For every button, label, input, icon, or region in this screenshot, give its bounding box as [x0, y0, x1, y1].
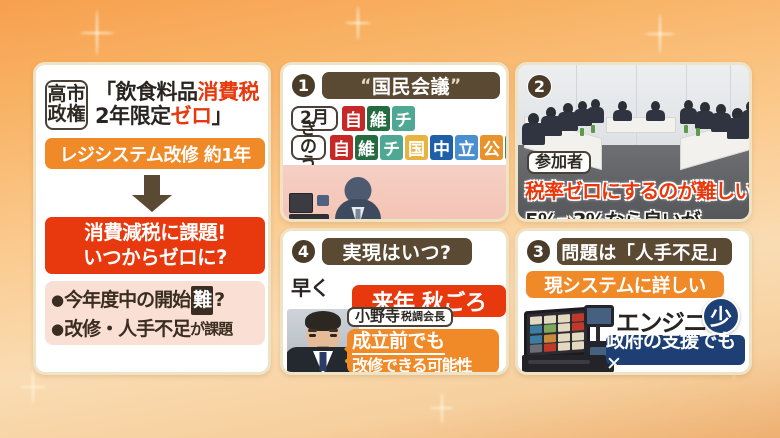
bullet-1-emphasis: 難: [191, 286, 213, 315]
issue-callout: 消費減税に課題! いつからゼロに?: [45, 217, 265, 274]
panel-participants: 参加者 税率ゼロにするのが難しい 5%➡3%なら良いが… 2: [515, 62, 752, 222]
register-display: [317, 195, 329, 206]
bullet-2-suffix: が課題: [190, 318, 232, 341]
bullet-marker: ●: [51, 289, 63, 312]
panel-1-title-text: 国民会議: [372, 72, 450, 99]
sparkle-icon: [430, 392, 454, 424]
panel-4-header: 4 実現はいつ?: [291, 238, 472, 265]
quote-suffix: 」: [212, 104, 233, 128]
panel-1-header: 1 “国民会議”: [291, 72, 500, 99]
party-badge: 自: [342, 106, 365, 131]
panel-3-subtitle: 現システムに詳しい: [526, 271, 724, 298]
party-badge: 保: [505, 135, 509, 160]
cash-register-icon: [289, 193, 331, 222]
party-badge: チ: [380, 135, 403, 160]
arrow-icon: ➡: [557, 209, 573, 222]
register-base: [289, 214, 329, 222]
panel-4-title: 実現はいつ?: [322, 238, 472, 265]
person-role: 税調会長: [401, 311, 445, 323]
person-name-chip: 小野寺税調会長: [347, 307, 453, 327]
businessman-silhouette: [335, 177, 381, 222]
bullet-item: ●今年度中の開始難?: [51, 286, 259, 315]
onodera-speech-bubble: 成立前でも 改修できる可能性: [347, 329, 499, 374]
administration-chip: 高市 政権: [45, 80, 88, 130]
register-drawer: [522, 355, 606, 373]
rate-to: 3%なら良いが…: [573, 209, 719, 222]
panel-number-3: 3: [526, 239, 551, 264]
issue-line-1: 消費減税に課題!: [84, 221, 225, 246]
portrait-hair: [305, 311, 341, 331]
party-badge: 中: [430, 135, 453, 160]
bubble-line-2: 改修できる可能性: [352, 356, 494, 375]
attendee-body: [613, 110, 632, 121]
customer-display: [584, 305, 614, 327]
bullet-1-text: 今年度中の開始: [64, 286, 190, 315]
portrait-tie: [320, 352, 327, 371]
party-badge: チ: [392, 106, 415, 131]
bullet-2-text: 改修・人手不足: [64, 315, 190, 344]
person-name: 小野寺: [355, 309, 400, 325]
silhouette-tie: [356, 209, 361, 222]
register-screen: [524, 307, 590, 360]
bubble-line-1: 成立前でも: [352, 331, 445, 355]
quote-prefix-1: 「飲食料品: [95, 80, 198, 104]
quote-highlight-1: 消費税: [198, 80, 260, 104]
party-badge: 公: [480, 135, 503, 160]
panel-number-1: 1: [291, 73, 316, 98]
bullet-list: ●今年度中の開始難? ●改修・人手不足が課題: [45, 281, 265, 345]
quote-prefix-2: 2年限定: [95, 104, 171, 128]
panel-3-header: 3 問題は「人手不足」: [526, 238, 732, 265]
party-badge: 立: [455, 135, 478, 160]
party-badges-february: 自 維 チ: [342, 106, 415, 131]
party-badge: 自: [330, 135, 353, 160]
quote-highlight-2: ゼロ: [171, 104, 212, 128]
panel-number-2: 2: [527, 74, 552, 99]
party-badge: 維: [355, 135, 378, 160]
participant-quote-line-2: 5%➡3%なら良いが…: [525, 205, 743, 222]
register-keypad: [530, 313, 584, 353]
speaker-label-participant: 参加者: [527, 151, 591, 174]
panel-national-conference: 1 “国民会議” 2月 自 維 チ きのう 自 維 チ 国 中 立 公: [280, 62, 509, 222]
attendee-body: [742, 110, 752, 128]
silhouette-body: [335, 199, 381, 222]
participant-quote: 税率ゼロにするのが難しい 5%➡3%なら良いが…: [525, 175, 743, 222]
participant-quote-line-1: 税率ゼロにするのが難しい: [525, 175, 743, 204]
row-label-yesterday: きのう: [291, 135, 326, 160]
attendee-body: [646, 110, 665, 121]
party-badge: 維: [367, 106, 390, 131]
party-row-yesterday: きのう 自 維 チ 国 中 立 公 保: [291, 135, 509, 160]
summary-panel: 高市 政権 「飲食料品消費税 2年限定ゼロ」 レジシステム改修 約1年 消費減税…: [33, 62, 271, 375]
register-upgrade-bar: レジシステム改修 約1年: [45, 138, 265, 169]
bullet-marker: ●: [51, 318, 63, 341]
party-badge: 国: [405, 135, 428, 160]
sparkle-icon: [20, 370, 46, 404]
attendee-body: [587, 107, 604, 123]
bullet-item: ●改修・人手不足が課題: [51, 315, 259, 344]
register-screen: [289, 193, 313, 213]
panel-labor-shortage: 3 問題は「人手不足」 現システムに詳しい エンジニア 少 政府の支援でも✕: [515, 228, 752, 375]
government-support-banner: 政府の支援でも✕: [606, 335, 745, 365]
open-quote: “: [360, 76, 372, 96]
panel-timing: 4 実現はいつ? 早くて 来年 秋ごろ 小野寺税調会長 成立前でも 改修できる可…: [280, 228, 509, 375]
issue-line-2: いつからゼロに?: [83, 246, 227, 271]
sparkle-icon: [645, 14, 675, 54]
sparkle-icon: [345, 6, 371, 40]
bullet-1-suffix: ?: [214, 286, 224, 315]
close-quote: ”: [450, 76, 462, 96]
sparkle-icon: [80, 10, 114, 56]
headline-quote: 「飲食料品消費税 2年限定ゼロ」: [95, 81, 259, 128]
party-badges-yesterday: 自 維 チ 国 中 立 公 保: [330, 135, 509, 160]
panel-number-4: 4: [291, 239, 316, 264]
down-arrow-icon: [129, 175, 175, 213]
panel-3-title: 問題は「人手不足」: [557, 238, 732, 265]
panel-1-title: “国民会議”: [322, 72, 500, 99]
graphic-board: 高市 政権 「飲食料品消費税 2年限定ゼロ」 レジシステム改修 約1年 消費減税…: [0, 0, 780, 438]
headline-row: 高市 政権 「飲食料品消費税 2年限定ゼロ」: [45, 75, 259, 135]
admin-line2: 政権: [47, 105, 85, 125]
admin-line1: 高市: [47, 85, 85, 105]
rate-from: 5%: [525, 209, 557, 222]
panel-1-illustration-strip: システム改修に 約1年必要: [283, 165, 506, 222]
